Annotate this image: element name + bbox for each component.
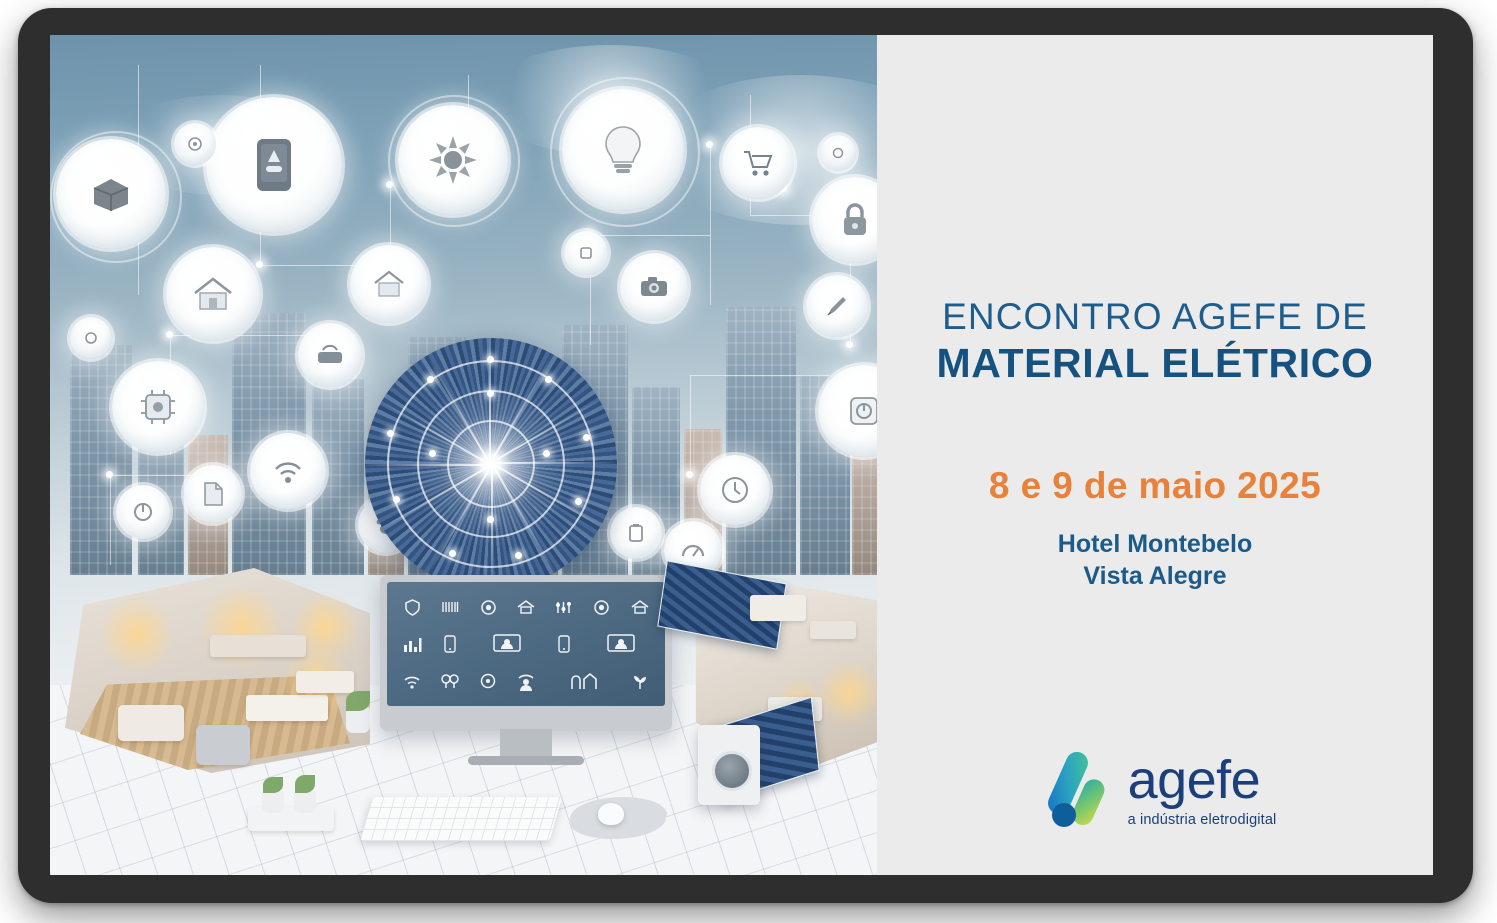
agefe-tagline: a indústria eletrodigital [1128,812,1277,828]
screenshot-stage: ENCONTRO AGEFE DE MATERIAL ELÉTRICO 8 e … [0,0,1497,923]
agefe-wordmark: agefe [1128,756,1261,806]
device-frame: ENCONTRO AGEFE DE MATERIAL ELÉTRICO 8 e … [18,8,1473,903]
monitor-stand [500,729,552,759]
wifi-icon [395,664,430,698]
sensor-icon [820,135,856,171]
bulb-pin-icon [433,664,468,698]
event-info-panel: ENCONTRO AGEFE DE MATERIAL ELÉTRICO 8 e … [877,35,1433,875]
agefe-logo: agefe a indústria eletrodigital [877,752,1433,830]
solar-disc-graphic [365,338,617,590]
event-artwork-image [50,35,877,875]
event-title: ENCONTRO AGEFE DE MATERIAL ELÉTRICO [877,294,1433,388]
barcode-icon [433,590,468,624]
lightbulb-icon [562,89,684,211]
mouse [598,803,624,825]
washing-machine-icon [698,725,760,805]
device-screen: ENCONTRO AGEFE DE MATERIAL ELÉTRICO 8 e … [50,35,1433,875]
power-dial-icon [471,664,506,698]
chip-icon [112,361,204,453]
sensor-icon [70,317,112,359]
target-icon [584,590,619,624]
home-cloud-icon [509,590,544,624]
shopping-cart-icon [722,127,794,199]
target-icon [471,590,506,624]
bar-chart-icon [395,627,430,661]
event-venue-line1: Hotel Montebelo [877,528,1433,560]
monitor-user-icon [471,627,544,661]
shield-icon [395,590,430,624]
sun-icon [398,105,508,215]
router-icon [298,323,362,387]
server-box-icon [56,139,166,249]
clock-icon [700,455,770,525]
agefe-logo-text: agefe a indústria eletrodigital [1128,756,1277,830]
dashboard-screen [387,582,665,706]
home-cloud-icon [622,590,657,624]
wifi-user-icon [509,664,544,698]
battery-icon [610,507,662,559]
sensor-icon [174,123,216,165]
smart-thermostat-icon [206,97,342,233]
settings-sliders-icon [546,590,581,624]
wifi-signal-icon [250,433,326,509]
smartphone-icon [433,627,468,661]
smartphone-icon [546,627,581,661]
event-title-line2: MATERIAL ELÉTRICO [877,339,1433,388]
key-house-icon [546,664,619,698]
monitor-user-icon [584,627,657,661]
small-house-icon [350,245,428,323]
event-details: 8 e 9 de maio 2025 Hotel Montebelo Vista… [877,465,1433,592]
pen-icon [806,275,868,337]
keyboard [360,797,563,841]
document-icon [184,465,242,523]
power-icon [116,485,170,539]
event-venue-line2: Vista Alegre [877,560,1433,592]
house-icon [166,247,260,341]
event-title-line1: ENCONTRO AGEFE DE [877,294,1433,339]
sensor-icon [564,231,608,275]
monitor-base [468,756,584,765]
camera-icon [620,253,688,321]
desktop-monitor [380,575,672,731]
agefe-logo-mark [1034,752,1114,830]
event-date: 8 e 9 de maio 2025 [877,465,1433,507]
event-venue: Hotel Montebelo Vista Alegre [877,528,1433,592]
plant-icon [622,664,657,698]
